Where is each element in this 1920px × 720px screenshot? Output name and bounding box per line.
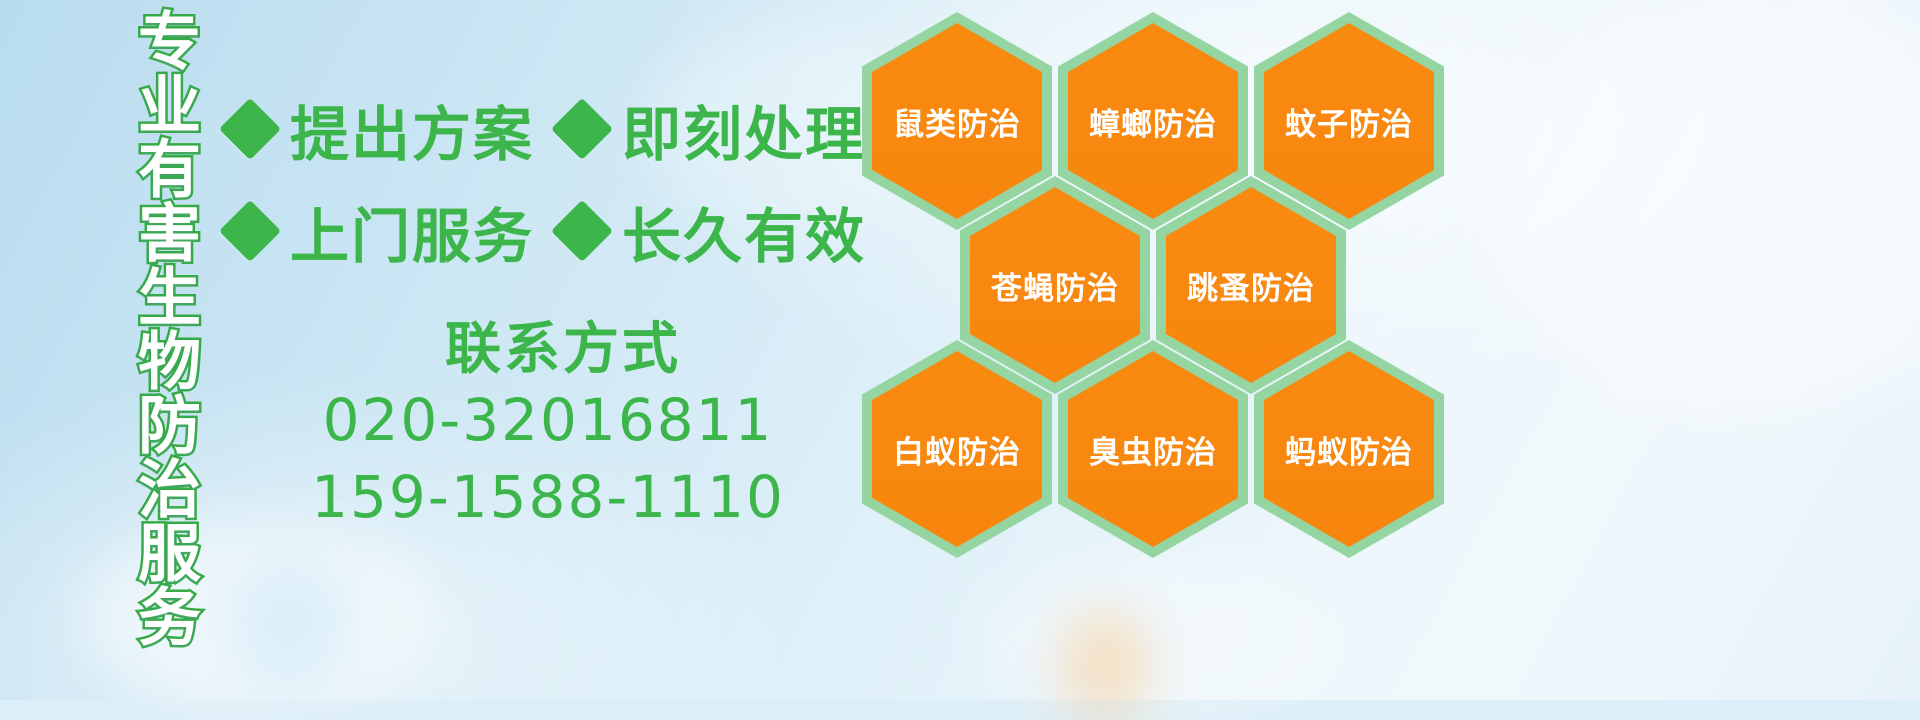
service-label: 蚂蚁防治 xyxy=(1285,427,1413,472)
feature-label: 长久有效 xyxy=(622,189,866,274)
contact-phone-landline[interactable]: 020-32016811 xyxy=(228,382,868,459)
hexagon-inner: 蚂蚁防治 xyxy=(1264,351,1434,547)
hexagon-inner: 蚊子防治 xyxy=(1264,23,1434,219)
diamond-bullet-icon xyxy=(551,98,613,160)
service-hexagon-grid: 鼠类防治 蟑螂防治 蚊子防治 苍蝇防治 跳蚤防治 白蚁防治 xyxy=(862,6,1442,546)
background-glow xyxy=(1500,0,1920,420)
feature-item: 长久有效 xyxy=(560,189,866,274)
service-label: 蚊子防治 xyxy=(1285,99,1413,144)
diamond-bullet-icon xyxy=(551,200,613,262)
service-label: 蟑螂防治 xyxy=(1089,99,1217,144)
contact-phone-mobile[interactable]: 159-1588-1110 xyxy=(228,459,868,536)
hexagon-inner: 鼠类防治 xyxy=(872,23,1042,219)
feature-label: 提出方案 xyxy=(290,87,534,172)
feature-list: 提出方案 即刻处理 上门服务 长久有效 xyxy=(228,78,868,282)
background-glow xyxy=(230,560,350,690)
pest-control-banner: 专业有害生物防治服务 提出方案 即刻处理 上门服务 长久有效 联 xyxy=(0,0,1920,700)
service-label: 白蚁防治 xyxy=(893,427,1021,472)
background-glow xyxy=(980,560,1340,720)
vertical-headline: 专业有害生物防治服务 xyxy=(104,8,196,648)
feature-label: 上门服务 xyxy=(290,189,534,274)
background-glow-orange xyxy=(1060,610,1150,720)
contact-block: 联系方式 020-32016811 159-1588-1110 xyxy=(228,318,868,535)
service-label: 苍蝇防治 xyxy=(991,263,1119,308)
feature-item: 上门服务 xyxy=(228,189,560,274)
service-label: 鼠类防治 xyxy=(893,99,1021,144)
service-label: 臭虫防治 xyxy=(1089,427,1217,472)
diamond-bullet-icon xyxy=(219,98,281,160)
hexagon-inner: 白蚁防治 xyxy=(872,351,1042,547)
hexagon-inner: 蟑螂防治 xyxy=(1068,23,1238,219)
diamond-bullet-icon xyxy=(219,200,281,262)
hexagon-inner: 臭虫防治 xyxy=(1068,351,1238,547)
hexagon-inner: 苍蝇防治 xyxy=(970,187,1140,383)
feature-row: 提出方案 即刻处理 xyxy=(228,78,868,180)
feature-item: 即刻处理 xyxy=(560,87,866,172)
feature-row: 上门服务 长久有效 xyxy=(228,180,868,282)
hexagon-inner: 跳蚤防治 xyxy=(1166,187,1336,383)
feature-label: 即刻处理 xyxy=(622,87,866,172)
feature-item: 提出方案 xyxy=(228,87,560,172)
contact-title: 联系方式 xyxy=(228,318,868,382)
service-label: 跳蚤防治 xyxy=(1187,263,1315,308)
